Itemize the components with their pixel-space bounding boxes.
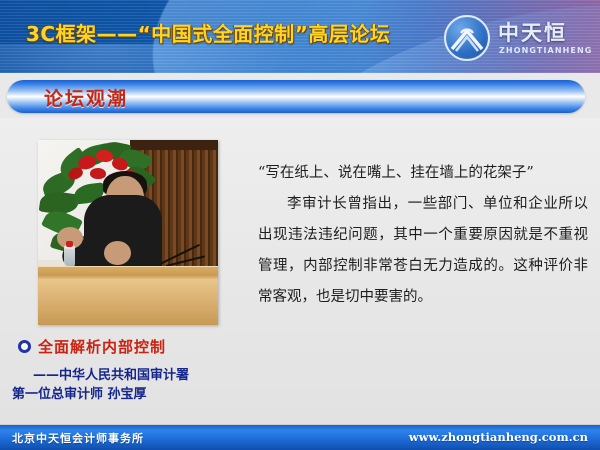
speaker-at-podium-photo [38, 140, 218, 325]
photo-canvas [38, 140, 218, 325]
section-title: 论坛观潮 [44, 84, 128, 111]
caption-heading-text: 全面解析内部控制 [38, 336, 166, 357]
logo-name-en: ZHONGTIANHENG [499, 46, 592, 55]
presentation-slide: 3C框架——“中国式全面控制”高层论坛 中天恒 ZHONGTIANHENG 论坛… [0, 0, 600, 450]
photo-flower [90, 168, 106, 180]
photo-podium [38, 267, 218, 325]
ring-bullet-icon [18, 340, 31, 353]
company-logo: 中天恒 ZHONGTIANHENG [442, 13, 592, 63]
photo-water-bottle [64, 245, 75, 267]
photo-water-bottle-cap [66, 241, 73, 247]
caption-heading: 全面解析内部控制 [18, 336, 166, 357]
body-quote: “写在纸上、说在嘴上、挂在墙上的花架子” [258, 158, 588, 189]
footer-website[interactable]: www.zhongtianheng.com.cn [409, 430, 588, 444]
footer-company-name: 北京中天恒会计师事务所 [12, 430, 144, 446]
body-text-block: “写在纸上、说在嘴上、挂在墙上的花架子” 李审计长曾指出，一些部门、单位和企业所… [258, 158, 588, 313]
header-banner: 3C框架——“中国式全面控制”高层论坛 中天恒 ZHONGTIANHENG [0, 0, 600, 73]
footer-bar: 北京中天恒会计师事务所 www.zhongtianheng.com.cn [0, 424, 600, 450]
photo-speaker-hand-right [104, 241, 131, 265]
logo-name-cn: 中天恒 [498, 17, 567, 47]
photo-wood-panel-top [130, 140, 218, 150]
mountain-arch-emblem-icon [444, 15, 490, 61]
caption-attribution: ——中华人民共和国审计署 第一位总审计师 孙宝厚 [33, 366, 189, 404]
header-title: 3C框架——“中国式全面控制”高层论坛 [26, 18, 390, 47]
caption-attribution-line-2: 第一位总审计师 孙宝厚 [12, 385, 189, 404]
caption-attribution-line-1: ——中华人民共和国审计署 [33, 368, 189, 383]
body-paragraph: 李审计长曾指出，一些部门、单位和企业所以出现违法违纪问题，其中一个重要原因就是不… [258, 189, 588, 313]
